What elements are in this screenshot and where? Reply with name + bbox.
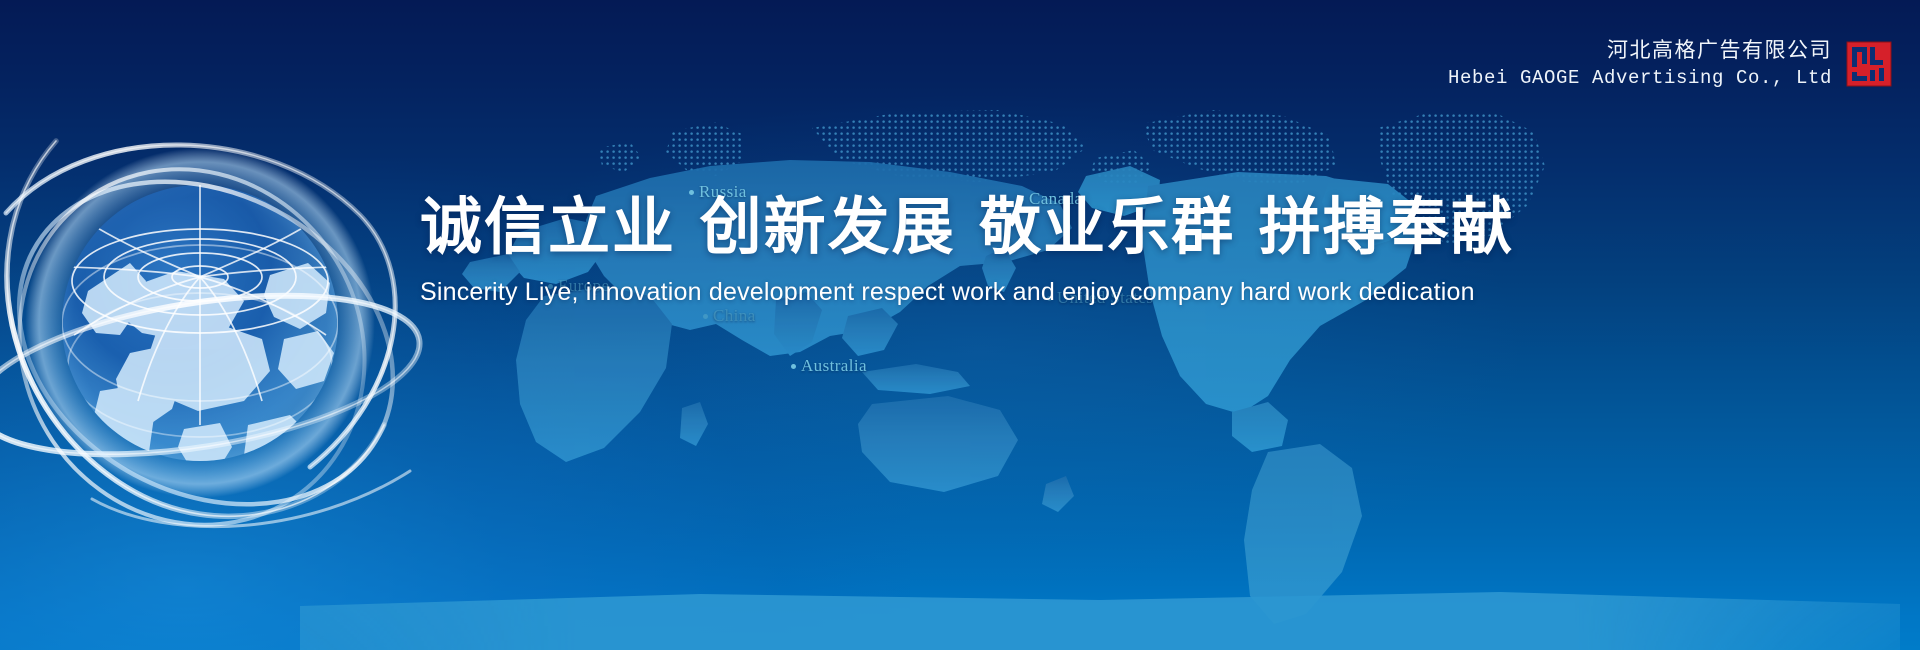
- company-name-block: 河北高格广告有限公司 Hebei GAOGE Advertising Co., …: [1448, 36, 1832, 92]
- company-identity: 河北高格广告有限公司 Hebei GAOGE Advertising Co., …: [1448, 36, 1892, 92]
- slogan-block: 诚信立业 创新发展 敬业乐群 拼搏奉献 Sincerity Liye, inno…: [420, 195, 1480, 307]
- slogan-english: Sincerity Liye, innovation development r…: [420, 278, 1480, 307]
- gaoge-logo-icon: [1846, 41, 1892, 87]
- globe-graphic: [0, 95, 430, 535]
- map-label-china: China: [703, 306, 756, 326]
- map-pin-icon: [791, 364, 796, 369]
- world-map-graphic: [0, 0, 1920, 650]
- center-glow: [430, 90, 1530, 610]
- company-name-en: Hebei GAOGE Advertising Co., Ltd: [1448, 66, 1832, 92]
- slogan-chinese: 诚信立业 创新发展 敬业乐群 拼搏奉献: [420, 195, 1480, 258]
- company-name-cn: 河北高格广告有限公司: [1448, 36, 1832, 64]
- company-banner: Russia Canada Australia Europe China Uni…: [0, 0, 1920, 650]
- map-label-australia: Australia: [791, 356, 867, 376]
- map-pin-icon: [703, 314, 708, 319]
